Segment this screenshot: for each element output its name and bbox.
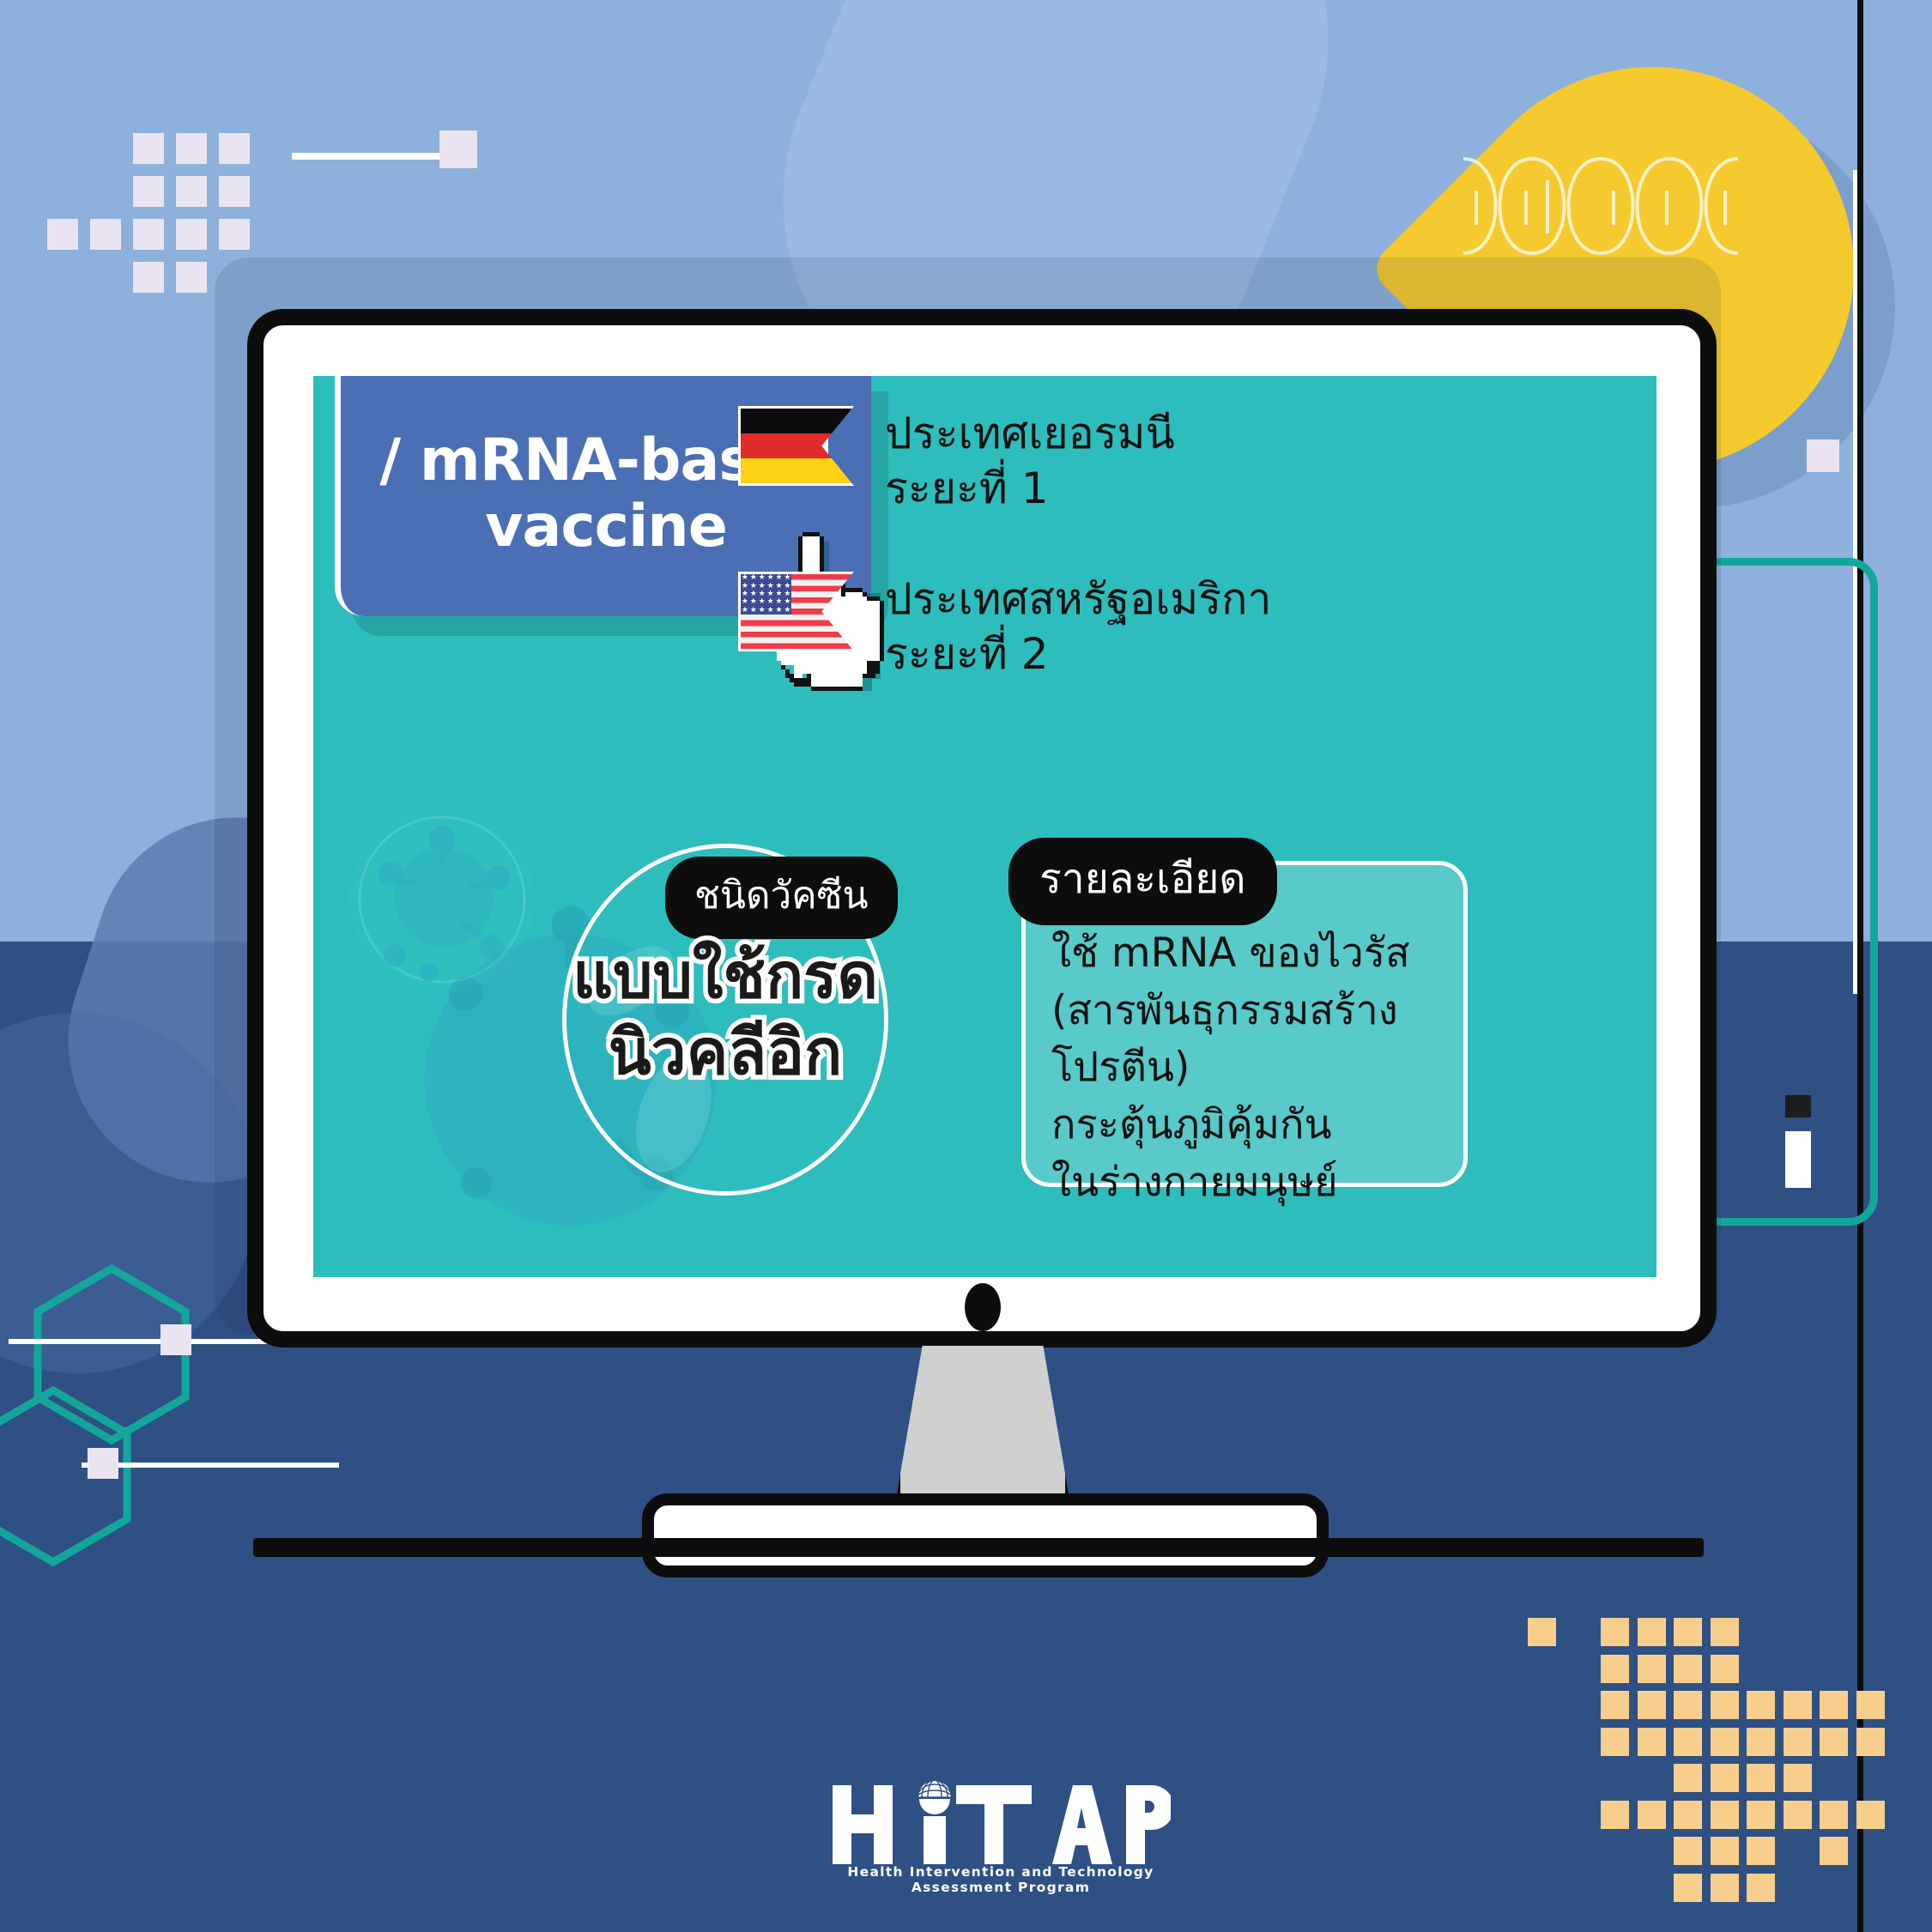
dot-grid-cell [1674,1874,1702,1902]
vaccine-type-badge: ชนิดวัคซีน [665,857,898,939]
dot-grid-cell [1747,1691,1775,1719]
dot-grid-cell [1601,1728,1629,1756]
monitor-screen: / mRNA-based vaccine ประเทศเยอรมนี ระยะท… [313,376,1656,1277]
dot-grid-cell [1820,1801,1848,1829]
dna-helix-icon [1459,154,1742,257]
webcam-dot [965,1283,1001,1331]
white-marker-right [1785,1131,1811,1188]
dot-grid-cell [1784,1728,1812,1756]
dot-grid-cell [1528,1618,1556,1646]
infographic-canvas: / mRNA-based vaccine ประเทศเยอรมนี ระยะท… [0,0,1932,1932]
hex-connector-line-1 [9,1339,292,1344]
dot-grid-cell [1747,1728,1775,1756]
dot-grid-cell [1784,1691,1812,1719]
black-marker-right [1785,1095,1811,1117]
desk-line [253,1538,1704,1557]
dot-grid-cell [1638,1728,1666,1756]
country-row-usa: ★★★★★★ ★★★★★★ ★★★★★★ ★★★★★★ ★★★★★★ ประเท… [738,572,1271,681]
dot-grid-cell [1820,1837,1848,1865]
dot-grid-cell [1747,1837,1775,1865]
dot-grid-cell [1784,1764,1812,1792]
dot-grid-cell [1711,1837,1739,1865]
dot-grid-cell [1711,1691,1739,1719]
monitor-base [642,1493,1329,1578]
dot-grid-cell [1674,1764,1702,1792]
dot-grid-cell [1711,1764,1739,1792]
hex-connector-line-2 [82,1463,339,1468]
connector-square-right [1807,439,1839,472]
germany-flag-icon [738,406,854,486]
dot-grid-cell [1856,1728,1885,1756]
dot-grid-cell [1601,1801,1629,1829]
dot-grid-cell [1674,1801,1702,1829]
dot-grid-cell [1747,1764,1775,1792]
dot-grid-cell [1601,1618,1629,1646]
dot-grid-cell [1747,1801,1775,1829]
country-label-germany: ประเทศเยอรมนี ระยะที่ 1 [885,406,1175,516]
hex-connector-square-2 [88,1448,118,1479]
hex-connector-square-1 [160,1324,191,1355]
dot-grid-cell [1856,1801,1885,1829]
details-body: ใช้ mRNA ของไวรัส (สารพันธุกรรมสร้างโปรต… [1051,925,1455,1212]
dot-grid-cell [1638,1801,1666,1829]
dot-grid-cell [1820,1691,1848,1719]
dot-grid-cell [1711,1655,1739,1683]
dot-grid-cell [1711,1874,1739,1902]
dot-grid-cell [1638,1618,1666,1646]
details-badge: รายละเอียด [1008,838,1277,925]
dot-grid-cell [1820,1728,1848,1756]
dot-grid-cell [1674,1655,1702,1683]
dot-grid-cell [1601,1691,1629,1719]
dot-grid-cell [1638,1655,1666,1683]
dot-grid-cell [1674,1837,1702,1865]
dot-grid-cell [1711,1728,1739,1756]
dot-grid-cell [1711,1801,1739,1829]
dot-grid-cell [1856,1691,1885,1719]
usa-flag-icon: ★★★★★★ ★★★★★★ ★★★★★★ ★★★★★★ ★★★★★★ [738,572,854,651]
dot-grid-cell [1784,1801,1812,1829]
country-label-usa: ประเทศสหรัฐอเมริกา ระยะที่ 2 [885,572,1271,681]
usa-flag-canton: ★★★★★★ ★★★★★★ ★★★★★★ ★★★★★★ ★★★★★★ [741,574,791,615]
vaccine-type-value: แบบใช้กรด นิวคลีอิก [532,938,918,1091]
dot-grid-cell [1674,1728,1702,1756]
dot-grid-cell [1674,1618,1702,1646]
connector-square-top-left [439,130,477,168]
dot-grid-cell [1601,1655,1629,1683]
dot-grid-cell [1638,1691,1666,1719]
dot-grid-cell [1711,1618,1739,1646]
dot-grid-cell [1747,1874,1775,1902]
hitap-tagline: Health Intervention and Technology Asses… [829,1864,1172,1895]
dot-grid-cell [1674,1691,1702,1719]
country-row-germany: ประเทศเยอรมนี ระยะที่ 1 [738,406,1175,516]
